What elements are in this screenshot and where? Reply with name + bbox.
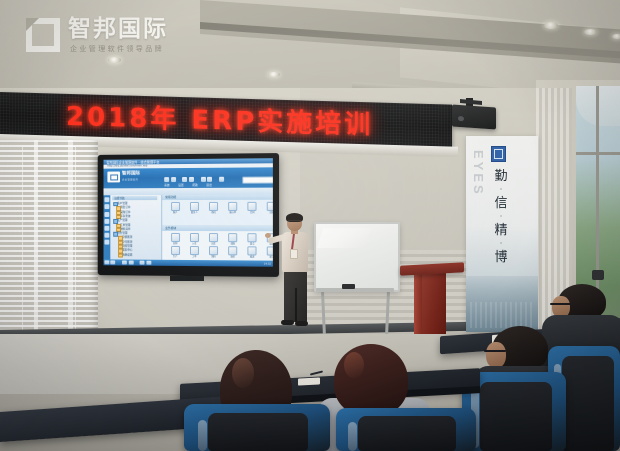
module-label: 入库: [185, 242, 203, 245]
window-mullion: [576, 152, 620, 155]
erp-taskbar[interactable]: 14:32: [104, 259, 273, 266]
erp-tree-header-label: 功能导航: [114, 196, 124, 201]
erp-tree-header: 功能导航: [112, 196, 157, 200]
presenter-badge: [290, 249, 298, 259]
rail-icon[interactable]: [104, 212, 109, 217]
chair-pad: [480, 382, 552, 451]
module-glyph-icon: [267, 246, 273, 255]
taskbar-icon[interactable]: [146, 260, 151, 264]
erp-module-icon[interactable]: 联系人: [185, 202, 203, 214]
module-glyph-icon: [267, 202, 273, 211]
display-stand: [170, 276, 204, 281]
rail-icon[interactable]: [104, 205, 109, 210]
module-glyph-icon: [228, 246, 237, 255]
erp-module-icon[interactable]: 合同: [243, 202, 262, 214]
poster-watermark: EYES: [468, 150, 486, 270]
erp-application-window[interactable]: 智邦国际企业管理软件 - 综合管理平台 http://erp.zbintel.c…: [104, 158, 273, 267]
attendee-hair-highlight: [344, 352, 364, 378]
erp-module-icon[interactable]: 调拨: [224, 233, 242, 245]
presenter-glasses-icon: [288, 220, 301, 223]
module-glyph-icon: [228, 233, 237, 242]
attendee-face: [486, 342, 506, 368]
erp-tree-list[interactable]: 客户管理 销售订单 采购订单 库存查询 生产管理 工单管理 物料清单 财务管理 …: [117, 201, 160, 259]
glasses-icon: [550, 303, 571, 305]
taskbar-clock: 14:32: [264, 261, 271, 266]
presenter-shoe: [281, 320, 294, 325]
glasses-icon: [484, 350, 506, 352]
module-label: 调拨: [224, 242, 242, 245]
projector-lens: [458, 116, 464, 121]
erp-module-icon[interactable]: 领料: [204, 246, 222, 258]
erp-module-icon[interactable]: 采购: [166, 233, 184, 245]
tree-item[interactable]: 系统设置: [122, 252, 132, 256]
module-glyph-icon: [171, 202, 180, 211]
toolbar-icon[interactable]: [201, 177, 206, 182]
module-label: 报表: [243, 255, 262, 258]
erp-brand-name: 智邦国际: [122, 171, 140, 177]
erp-module-icon[interactable]: 报价单: [224, 202, 242, 214]
chair-edge: [198, 420, 207, 451]
rail-icon[interactable]: [104, 219, 109, 224]
chair[interactable]: [336, 408, 476, 451]
module-label: 客户: [166, 211, 184, 214]
notched-square-logo-icon: [26, 18, 60, 52]
module-glyph-icon: [190, 233, 199, 242]
erp-module-icon[interactable]: 盘点: [243, 233, 262, 245]
module-label: 报价单: [224, 211, 242, 214]
company-emblem-icon: [491, 146, 506, 162]
company-logo: 智邦国际 企业管理软件领导品牌: [26, 14, 216, 62]
toolbar-icon[interactable]: [171, 177, 176, 182]
rail-icon[interactable]: [104, 226, 109, 231]
toolbar-icon[interactable]: [189, 177, 194, 182]
module-glyph-icon: [190, 202, 199, 211]
erp-top-menu[interactable]: 系统 设置 帮助 退出: [164, 170, 271, 176]
presenter: [276, 214, 316, 330]
toolbar-icon[interactable]: [182, 177, 187, 182]
rail-icon[interactable]: [104, 233, 109, 238]
erp-panel-common-header: 常用功能: [162, 195, 273, 200]
module-label: 领料: [204, 255, 222, 258]
module-label: 盘点: [243, 242, 262, 245]
company-name: 智邦国际: [68, 16, 168, 42]
chair-edge: [348, 422, 357, 451]
rail-icon[interactable]: [104, 197, 109, 202]
module-glyph-icon: [209, 246, 218, 255]
erp-module-icon[interactable]: 回款: [262, 202, 272, 214]
erp-panel-common-title: 常用功能: [165, 195, 176, 200]
taskbar-icon[interactable]: [128, 260, 133, 264]
module-glyph-icon: [190, 246, 199, 255]
erp-module-icon[interactable]: 客户: [166, 202, 184, 214]
erp-panel-business-title: 业务模块: [165, 226, 176, 231]
module-label: 出库: [204, 242, 222, 245]
chair-pad: [562, 356, 614, 451]
rail-icon[interactable]: [104, 240, 109, 245]
downlight-icon: [612, 34, 620, 39]
meeting-room-photo: 智邦国际 企业管理软件领导品牌 2018年 ERP实施培训 EYES 勤 · 信…: [0, 0, 620, 451]
module-glyph-icon: [209, 233, 218, 242]
module-label: 统计: [262, 256, 272, 259]
toolbar-icon[interactable]: [219, 177, 224, 182]
erp-module-icon[interactable]: 生产: [166, 246, 184, 258]
erp-panel-business-header: 业务模块: [162, 226, 273, 231]
module-label: 商机: [204, 211, 222, 214]
company-tagline: 企业管理软件领导品牌: [70, 45, 164, 54]
window-latch[interactable]: [592, 270, 604, 280]
erp-module-icon[interactable]: 商机: [204, 202, 222, 214]
module-label: 质检: [224, 255, 242, 258]
module-glyph-icon: [248, 233, 257, 242]
wall-poster: EYES 勤 · 信 · 精 · 博: [466, 136, 538, 332]
module-glyph-icon: [248, 246, 257, 255]
module-glyph-icon: [171, 233, 180, 242]
module-label: 生产: [166, 255, 184, 258]
taskbar-icon[interactable]: [140, 260, 145, 264]
module-label: 采购: [166, 242, 184, 245]
downlight-icon: [584, 29, 597, 35]
toolbar-icon[interactable]: [207, 177, 212, 182]
erp-icon-grid-common[interactable]: 客户 联系人 商机 报价单 合同 回款: [166, 202, 273, 214]
erp-icon-rail[interactable]: [104, 195, 111, 260]
taskbar-icon[interactable]: [104, 260, 109, 264]
poster-char-2: 信: [486, 193, 516, 214]
module-label: 联系人: [185, 211, 203, 214]
presenter-leg-split: [295, 288, 297, 322]
module-glyph-icon: [228, 202, 237, 211]
poster-char-1: 勤: [486, 166, 516, 187]
poster-cityscape: [466, 276, 538, 332]
module-label: 工单: [185, 255, 203, 258]
module-glyph-icon: [171, 246, 180, 255]
erp-brand-sub: 企业管理软件: [122, 178, 138, 182]
chair[interactable]: [184, 404, 330, 451]
projector-icon: [452, 104, 496, 129]
erp-module-icon[interactable]: 工单: [185, 246, 203, 258]
taskbar-icon[interactable]: [111, 260, 116, 264]
presenter-hand: [265, 233, 271, 238]
attendee-hair-highlight: [232, 358, 254, 388]
chair-pad: [358, 416, 456, 451]
module-glyph-icon: [209, 202, 218, 211]
poster-char-4: 博: [486, 247, 516, 268]
downlight-icon: [544, 22, 558, 29]
erp-module-icon[interactable]: 入库: [185, 233, 203, 245]
module-label: 回款: [262, 211, 272, 214]
module-label: 合同: [243, 211, 262, 214]
erp-module-icon[interactable]: 质检: [224, 246, 242, 258]
taskbar-icon[interactable]: [122, 260, 127, 264]
toolbar-icon[interactable]: [164, 177, 169, 182]
display-screen[interactable]: 智邦国际企业管理软件 - 综合管理平台 http://erp.zbintel.c…: [98, 153, 279, 277]
erp-brand-logo-icon: [107, 171, 120, 182]
poster-motto: 勤 · 信 · 精 · 博: [486, 166, 516, 268]
chair-pad: [208, 413, 308, 451]
erp-module-icon[interactable]: 报表: [243, 246, 262, 258]
downlight-icon: [268, 72, 280, 77]
erp-icon-grid-business[interactable]: 采购 入库 出库 调拨 盘点 结算 生产 工单 领料 质检 报表 统计: [166, 233, 273, 259]
attendee-hair: [334, 344, 408, 416]
erp-module-icon[interactable]: 出库: [204, 233, 222, 245]
module-glyph-icon: [248, 202, 257, 211]
poster-char-3: 精: [486, 220, 516, 241]
erp-search-input[interactable]: [242, 177, 273, 184]
whiteboard-tray: [316, 288, 394, 292]
whiteboard-eraser[interactable]: [342, 284, 355, 289]
presenter-shoe: [295, 321, 308, 326]
erp-module-icon[interactable]: 统计: [262, 246, 272, 258]
whiteboard[interactable]: [314, 222, 400, 292]
whiteboard-glare: [317, 228, 371, 248]
